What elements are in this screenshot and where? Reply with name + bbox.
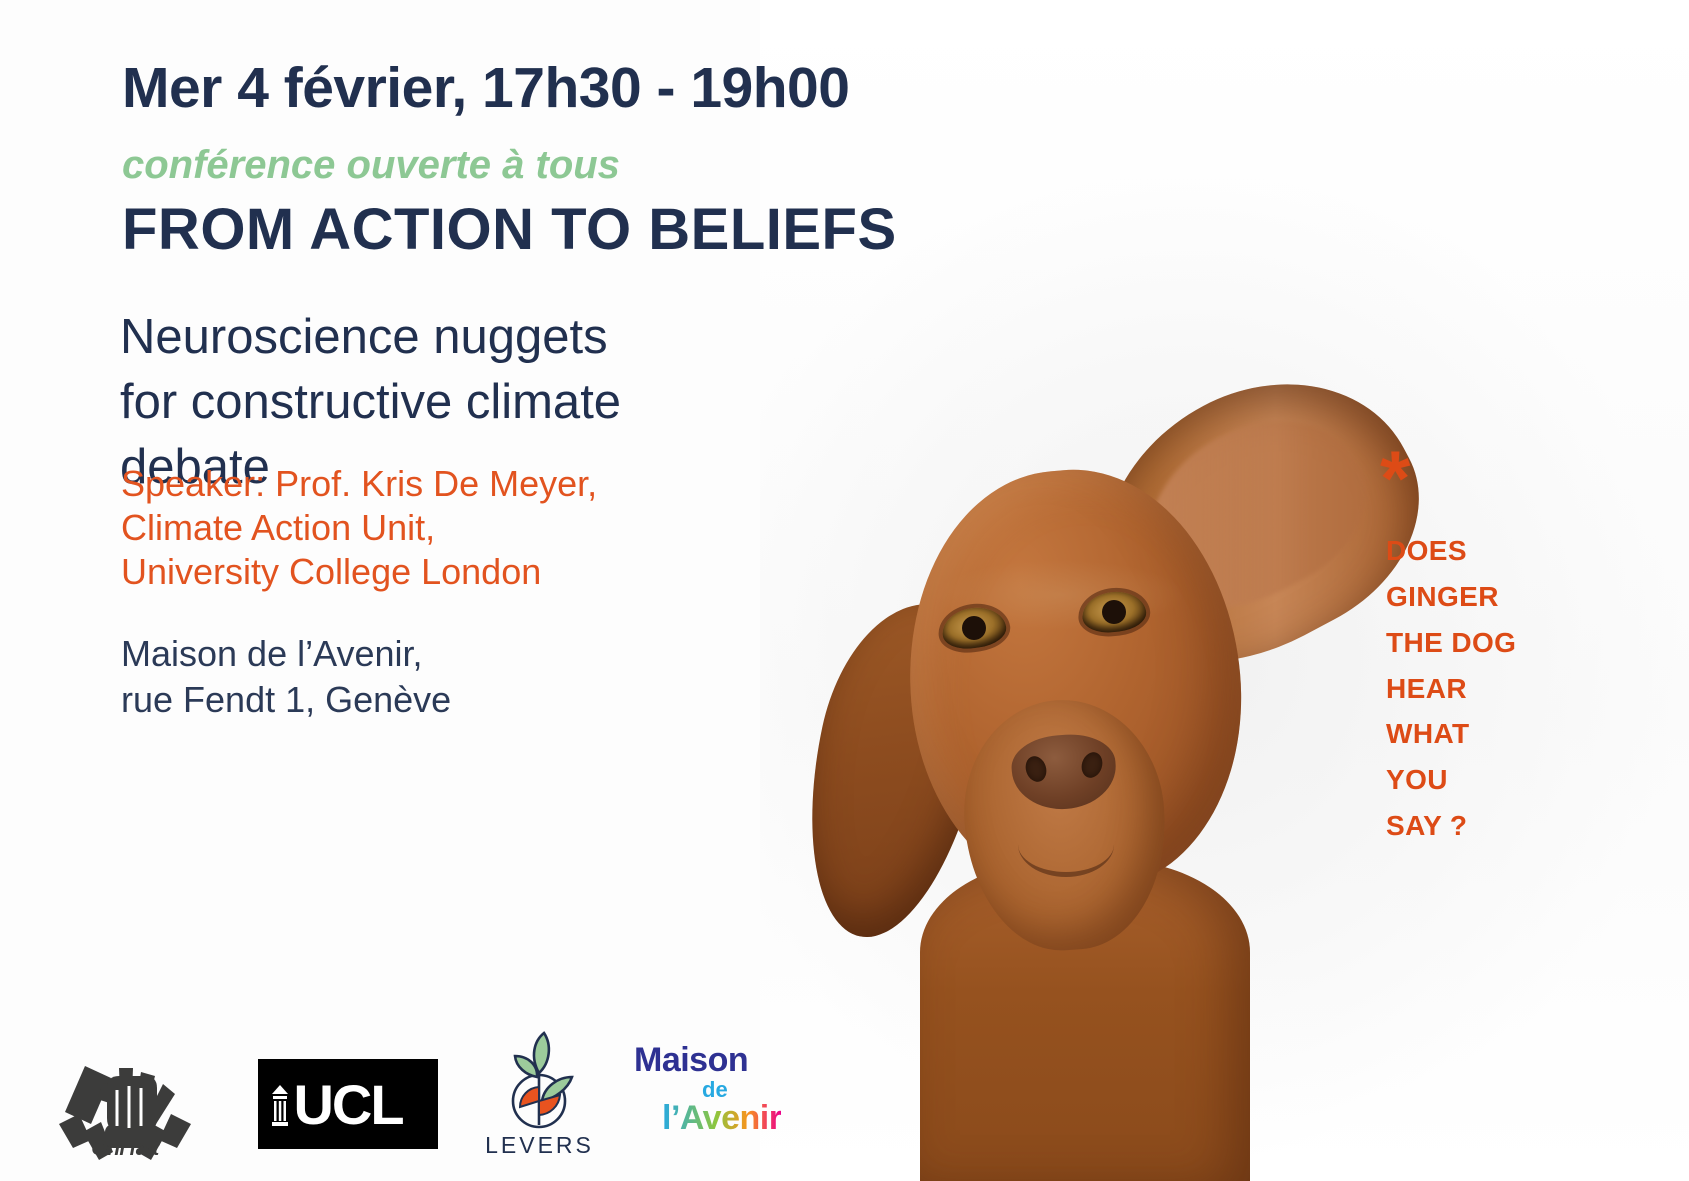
poster-canvas: Mer 4 février, 17h30 - 19h00 conférence … — [0, 0, 1689, 1181]
dog-left-pupil — [962, 616, 986, 640]
logo-maison-de-lavenir: Maison de l’Avenir — [634, 1041, 824, 1141]
logo-levers-wordmark: LEVERS — [482, 1132, 597, 1159]
dog-right-pupil — [1102, 600, 1126, 624]
logo-onlfait-wordmark: Onl'fait — [55, 1137, 195, 1161]
caption-line-4: HEAR — [1386, 666, 1616, 712]
event-subtitle-line-1: Neuroscience nuggets — [120, 305, 780, 370]
dog-caption-lines: DOES GINGER THE DOG HEAR WHAT YOU SAY ? — [1386, 528, 1616, 849]
speaker-name-line: Speaker: Prof. Kris De Meyer, — [121, 462, 597, 506]
caption-line-1: DOES — [1386, 528, 1616, 574]
venue-address: rue Fendt 1, Genève — [121, 677, 451, 723]
caption-line-7: SAY ? — [1386, 803, 1616, 849]
caption-line-6: YOU — [1386, 757, 1616, 803]
logo-ucl: UCL — [258, 1059, 438, 1149]
sponsor-logo-row: Onl'fait UCL — [0, 991, 900, 1181]
speaker-block: Speaker: Prof. Kris De Meyer, Climate Ac… — [121, 462, 597, 594]
logo-maison-line-1: Maison — [634, 1041, 824, 1080]
event-date-time: Mer 4 février, 17h30 - 19h00 — [122, 55, 849, 121]
logo-maison-line-2: l’Avenir — [662, 1099, 781, 1138]
page-title: FROM ACTION TO BELIEFS — [122, 196, 897, 263]
venue-name: Maison de l’Avenir, — [121, 631, 451, 677]
asterisk-icon: * — [1380, 455, 1616, 502]
dog-mouth-line — [1018, 812, 1114, 877]
logo-levers: LEVERS — [482, 1029, 597, 1159]
caption-line-5: WHAT — [1386, 711, 1616, 757]
open-to-all-note: conférence ouverte à tous — [122, 143, 620, 188]
logo-onlfait: Onl'fait — [55, 1028, 195, 1163]
ucl-portico-icon — [270, 1085, 290, 1127]
speaker-unit-line: Climate Action Unit, — [121, 506, 597, 550]
venue-block: Maison de l’Avenir, rue Fendt 1, Genève — [121, 631, 451, 723]
dog-caption-block: * DOES GINGER THE DOG HEAR WHAT YOU SAY … — [1386, 455, 1616, 849]
caption-line-2: GINGER — [1386, 574, 1616, 620]
sprout-icon — [482, 1029, 597, 1129]
speaker-institution-line: University College London — [121, 550, 597, 594]
caption-line-3: THE DOG — [1386, 620, 1616, 666]
